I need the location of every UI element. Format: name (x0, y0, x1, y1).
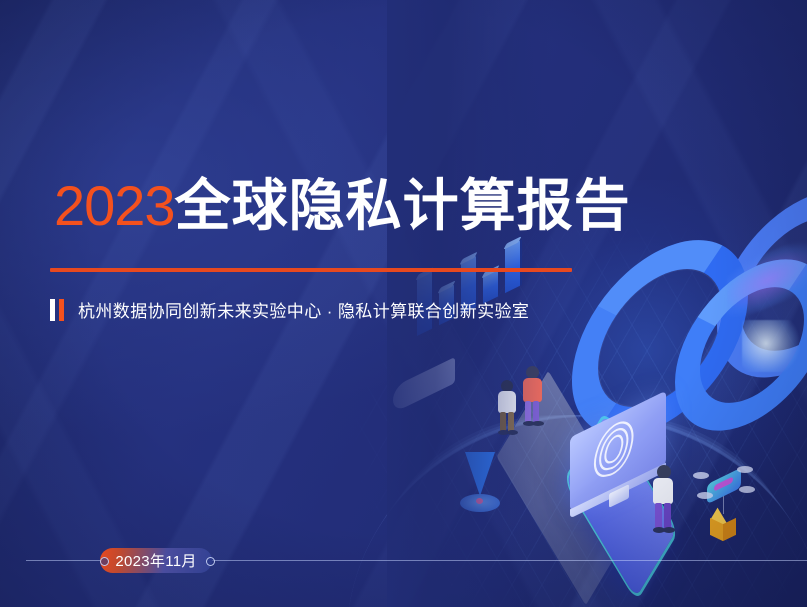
subtitle-text: 杭州数据协同创新未来实验中心 · 隐私计算联合创新实验室 (78, 297, 529, 322)
marker-orange-bar (59, 299, 64, 321)
presentation-slide: 2023全球隐私计算报告 杭州数据协同创新未来实验中心 · 隐私计算联合创新实验… (0, 0, 807, 607)
title-main: 全球隐私计算报告 (175, 174, 631, 237)
date-badge-row: 2023年11月 (0, 548, 807, 574)
date-node-right (206, 557, 215, 566)
date-line-right (212, 560, 807, 561)
page-title: 2023全球隐私计算报告 (54, 176, 631, 236)
subtitle: 杭州数据协同创新未来实验中心 · 隐私计算联合创新实验室 (50, 297, 529, 322)
title-divider (50, 268, 572, 272)
date-text: 2023年11月 (115, 550, 196, 571)
date-node-left (100, 557, 109, 566)
date-line-left (26, 560, 102, 561)
slide-content: 2023全球隐私计算报告 杭州数据协同创新未来实验中心 · 隐私计算联合创新实验… (0, 0, 807, 607)
title-year: 2023 (54, 174, 175, 237)
marker-white-bar (50, 299, 55, 321)
date-badge: 2023年11月 (100, 548, 212, 573)
